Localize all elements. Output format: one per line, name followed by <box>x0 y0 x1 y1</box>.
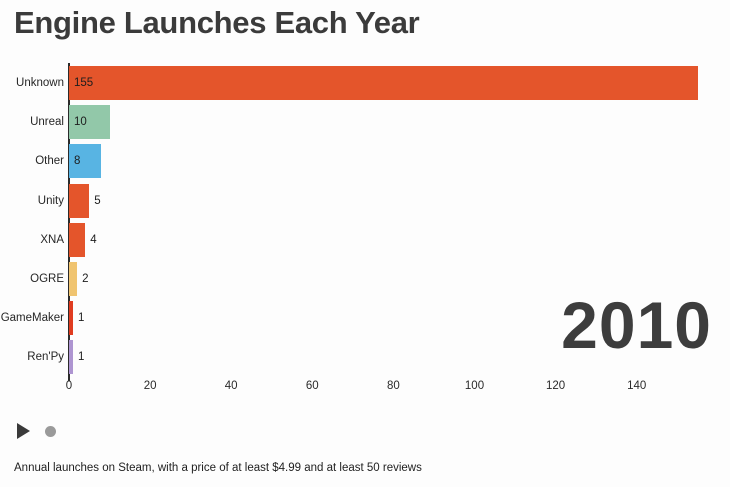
bar-category-label: XNA <box>40 234 64 246</box>
bar-value-label: 10 <box>74 116 87 128</box>
bar-value-label: 5 <box>94 195 100 207</box>
year-label: 2010 <box>561 292 712 358</box>
bar-category-label: Ren'Py <box>27 351 64 363</box>
bar-chart-race-app: Engine Launches Each Year Unknown155Unre… <box>0 0 730 487</box>
bar-value-label: 4 <box>90 234 96 246</box>
chart-caption: Annual launches on Steam, with a price o… <box>14 462 422 474</box>
bar[interactable] <box>69 184 89 218</box>
x-axis: 020406080100120140 <box>0 380 730 402</box>
x-axis-tick: 20 <box>144 380 157 392</box>
play-icon[interactable] <box>17 423 30 439</box>
bar-category-label: Unknown <box>16 77 64 89</box>
playback-controls <box>0 418 730 448</box>
timeline-handle[interactable] <box>45 426 56 437</box>
bar-category-label: Unreal <box>30 116 64 128</box>
bar-row: Unreal10 <box>0 105 730 139</box>
bar-category-label: GameMaker <box>1 312 64 324</box>
x-axis-tick: 40 <box>225 380 238 392</box>
bar-value-label: 1 <box>78 351 84 363</box>
x-axis-tick: 140 <box>627 380 646 392</box>
bar[interactable] <box>69 262 77 296</box>
bar-row: Unknown155 <box>0 66 730 100</box>
bar-category-label: Unity <box>38 195 64 207</box>
timeline-track[interactable] <box>46 430 706 432</box>
bar[interactable] <box>69 223 85 257</box>
bar-category-label: Other <box>35 155 64 167</box>
bar-category-label: OGRE <box>30 273 64 285</box>
bar-value-label: 2 <box>82 273 88 285</box>
bar-row: Unity5 <box>0 184 730 218</box>
bar[interactable] <box>69 66 698 100</box>
x-axis-tick: 0 <box>66 380 72 392</box>
bar-value-label: 155 <box>74 77 93 89</box>
x-axis-tick: 100 <box>465 380 484 392</box>
x-axis-tick: 120 <box>546 380 565 392</box>
bar-row: XNA4 <box>0 223 730 257</box>
bar-row: Other8 <box>0 144 730 178</box>
bar-value-label: 8 <box>74 155 80 167</box>
page-title: Engine Launches Each Year <box>14 5 419 41</box>
bar-value-label: 1 <box>78 312 84 324</box>
x-axis-tick: 60 <box>306 380 319 392</box>
bar[interactable] <box>69 340 73 374</box>
bar[interactable] <box>69 301 73 335</box>
x-axis-tick: 80 <box>387 380 400 392</box>
